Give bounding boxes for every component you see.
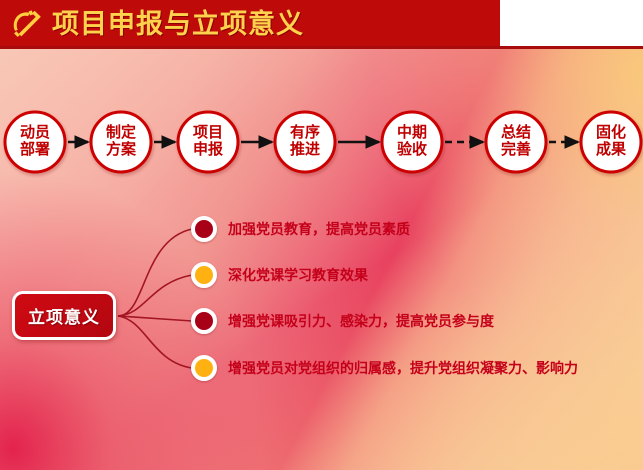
list-item[interactable]: 增强党课吸引力、感染力，提高党员参与度 xyxy=(191,307,494,335)
party-emblem-hammer-sickle-icon xyxy=(8,5,44,41)
meaning-box-label: 立项意义 xyxy=(15,294,113,337)
node-solidify[interactable] xyxy=(581,112,641,172)
node-plan[interactable] xyxy=(91,112,151,172)
list-item-label: 增强党课吸引力、感染力，提高党员参与度 xyxy=(228,311,494,331)
bullet-dot-icon xyxy=(191,216,217,242)
page-title: 项目申报与立项意义 xyxy=(52,2,304,46)
list-item-label: 加强党员教育，提高党员素质 xyxy=(228,219,410,239)
node-midcheck[interactable] xyxy=(382,112,442,172)
list-item[interactable]: 增强党员对党组织的归属感，提升党组织凝聚力、影响力 xyxy=(191,354,578,382)
meaning-box[interactable]: 立项意义 xyxy=(12,291,116,340)
bullet-dot-icon xyxy=(191,355,217,381)
header-bar-blank-area xyxy=(500,0,643,46)
node-summarize[interactable] xyxy=(486,112,546,172)
slide-canvas: 项目申报与立项意义 xyxy=(0,0,643,470)
node-apply[interactable] xyxy=(178,112,238,172)
list-item[interactable]: 深化党课学习教育效果 xyxy=(191,261,368,289)
node-advance[interactable] xyxy=(275,112,335,172)
branch-to-bullet-4 xyxy=(118,316,192,368)
bullet-dot-icon xyxy=(191,262,217,288)
list-item-label: 深化党课学习教育效果 xyxy=(228,265,368,285)
header-underline xyxy=(0,46,643,49)
list-item-label: 增强党员对党组织的归属感，提升党组织凝聚力、影响力 xyxy=(228,358,578,378)
branch-to-bullet-1 xyxy=(118,229,192,316)
list-item[interactable]: 加强党员教育，提高党员素质 xyxy=(191,215,410,243)
meaning-branch-curves xyxy=(118,229,192,368)
bullet-dot-icon xyxy=(191,308,217,334)
flow-nodes xyxy=(5,112,641,172)
node-mobilize[interactable] xyxy=(5,112,65,172)
